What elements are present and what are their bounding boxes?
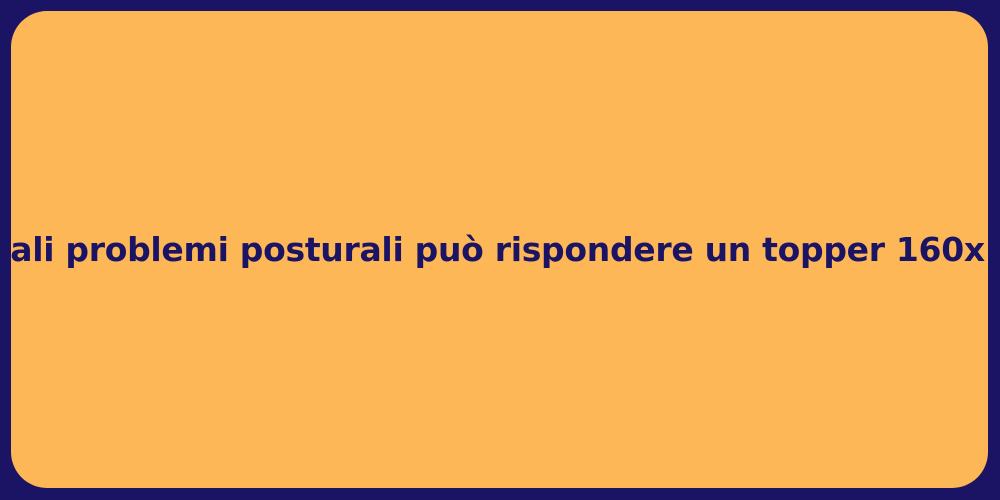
faq-card-frame: A quali problemi posturali può risponder… [0,0,1000,500]
faq-card-panel: A quali problemi posturali può risponder… [11,11,988,488]
faq-question-heading: A quali problemi posturali può risponder… [0,229,1000,270]
